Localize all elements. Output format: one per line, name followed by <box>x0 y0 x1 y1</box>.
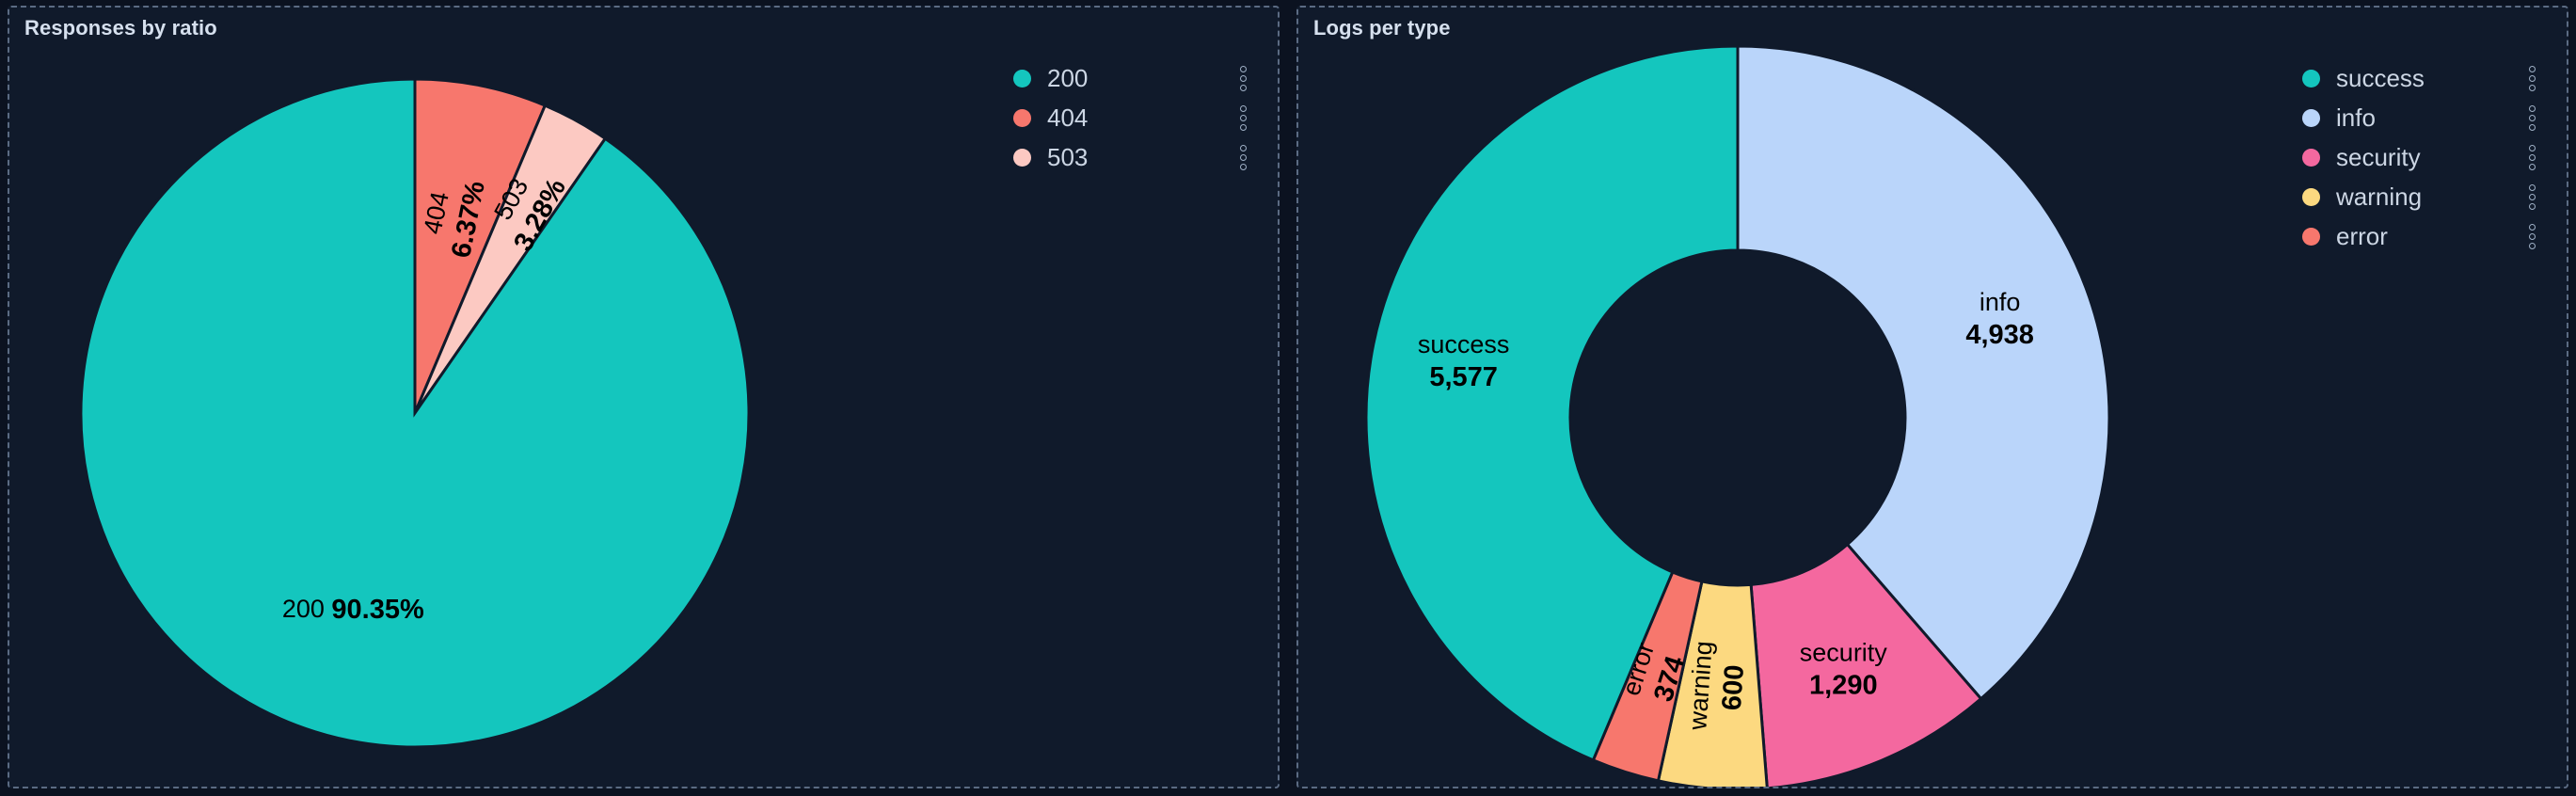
pie-chart-responses-by-ratio[interactable]: 4046.37%5033.28%200 90.35% <box>9 49 1013 787</box>
legend-item-label: security <box>2336 143 2521 172</box>
legend-item-label: 503 <box>1047 143 1232 172</box>
dashboard: Responses by ratio 4046.37%5033.28%200 9… <box>0 0 2576 796</box>
panel-body: 4046.37%5033.28%200 90.35% 200 404 503 <box>9 49 1278 787</box>
slice-label-security: security1,290 <box>1799 638 1887 700</box>
svg-text:info: info <box>1979 288 2020 316</box>
svg-text:1,290: 1,290 <box>1809 670 1878 700</box>
slice-label-200: 200 90.35% <box>281 595 423 625</box>
panel-header: Responses by ratio <box>9 8 1278 49</box>
legend-item[interactable]: error <box>2302 216 2542 256</box>
panel-header: Logs per type <box>1298 8 2567 49</box>
kebab-menu-icon[interactable] <box>2521 102 2542 134</box>
legend-item[interactable]: 404 <box>1013 98 1253 137</box>
donut-svg: info4,938security1,290warning600error374… <box>1302 46 2299 788</box>
legend-color-swatch <box>2302 188 2320 206</box>
legend-item-label: 200 <box>1047 64 1232 93</box>
panel-logs-per-type: Logs per type info4,938security1,290warn… <box>1296 6 2568 788</box>
panel-body: info4,938security1,290warning600error374… <box>1298 49 2567 787</box>
legend-item-label: warning <box>2336 183 2521 212</box>
legend-item[interactable]: security <box>2302 137 2542 177</box>
svg-text:success: success <box>1417 330 1509 358</box>
legend-color-swatch <box>2302 149 2320 167</box>
svg-text:4,938: 4,938 <box>1965 320 2034 350</box>
svg-text:200 90.35%: 200 90.35% <box>281 595 423 625</box>
legend-responses-by-ratio: 200 404 503 <box>1013 49 1278 177</box>
legend-item[interactable]: 200 <box>1013 58 1253 98</box>
legend-item-label: success <box>2336 64 2521 93</box>
legend-item[interactable]: success <box>2302 58 2542 98</box>
donut-chart-logs-per-type[interactable]: info4,938security1,290warning600error374… <box>1298 49 2302 787</box>
svg-text:600: 600 <box>1716 664 1749 711</box>
panel-responses-by-ratio: Responses by ratio 4046.37%5033.28%200 9… <box>8 6 1280 788</box>
pie-svg: 4046.37%5033.28%200 90.35% <box>13 46 1010 788</box>
legend-item-label: 404 <box>1047 103 1232 133</box>
legend-logs-per-type: success info security warning <box>2302 49 2567 256</box>
kebab-menu-icon[interactable] <box>2521 62 2542 94</box>
legend-color-swatch <box>2302 109 2320 127</box>
legend-color-swatch <box>1013 70 1031 88</box>
legend-color-swatch <box>2302 70 2320 88</box>
svg-text:security: security <box>1799 638 1887 666</box>
legend-item-label: info <box>2336 103 2521 133</box>
kebab-menu-icon[interactable] <box>2521 181 2542 213</box>
kebab-menu-icon[interactable] <box>1232 102 1253 134</box>
legend-item[interactable]: warning <box>2302 177 2542 216</box>
page-title: Logs per type <box>1313 16 1451 40</box>
slice-label-success: success5,577 <box>1417 330 1509 392</box>
legend-color-swatch <box>2302 228 2320 246</box>
legend-item-label: error <box>2336 222 2521 251</box>
legend-item[interactable]: info <box>2302 98 2542 137</box>
page-title: Responses by ratio <box>24 16 217 40</box>
kebab-menu-icon[interactable] <box>2521 141 2542 173</box>
pie-slice-200[interactable] <box>80 79 748 747</box>
svg-text:5,577: 5,577 <box>1429 362 1498 392</box>
kebab-menu-icon[interactable] <box>1232 141 1253 173</box>
kebab-menu-icon[interactable] <box>1232 62 1253 94</box>
legend-color-swatch <box>1013 149 1031 167</box>
kebab-menu-icon[interactable] <box>2521 220 2542 252</box>
legend-color-swatch <box>1013 109 1031 127</box>
legend-item[interactable]: 503 <box>1013 137 1253 177</box>
